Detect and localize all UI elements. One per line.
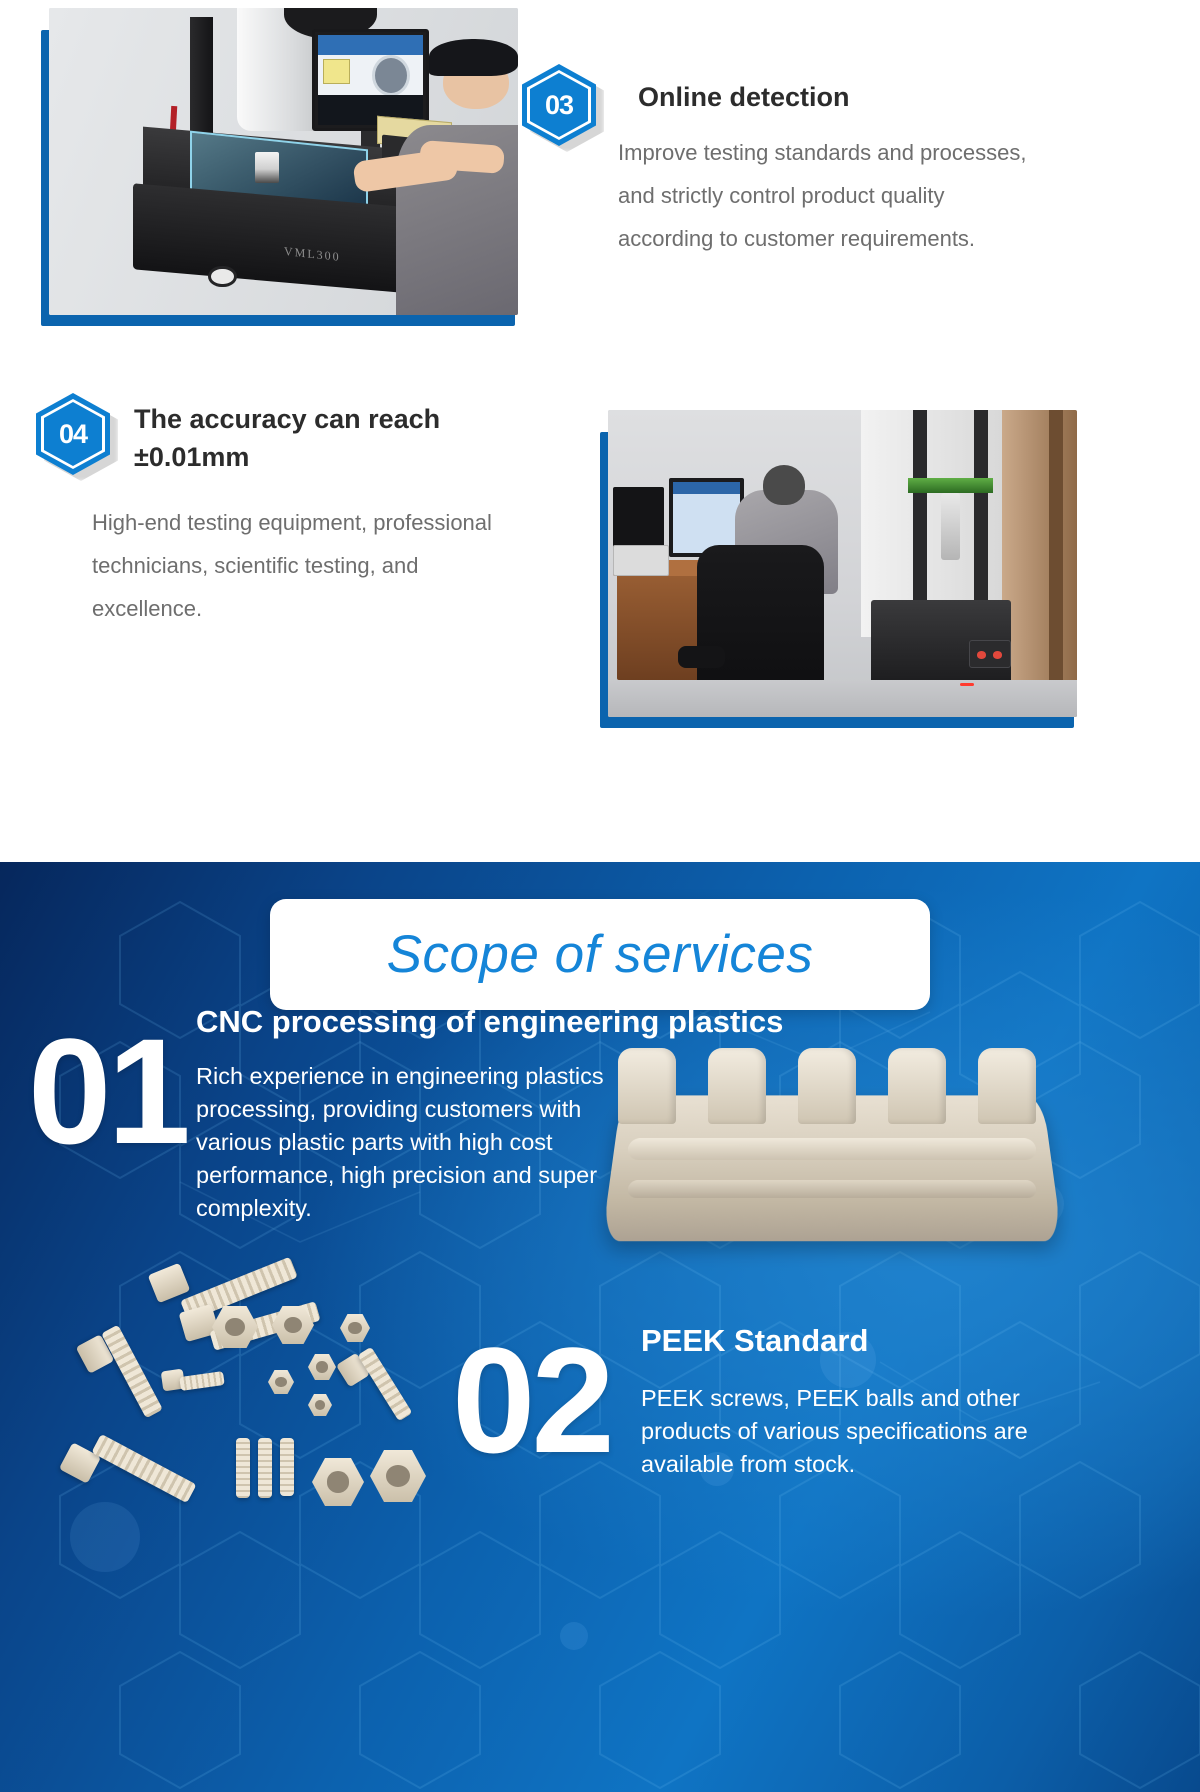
- hex-nut: [308, 1394, 332, 1416]
- indicator-light: [993, 651, 1002, 658]
- machine-grip: [941, 493, 960, 561]
- stud: [280, 1438, 294, 1496]
- chain-plate-tooth: [888, 1048, 946, 1124]
- online-detection-photo-frame: VML300: [38, 8, 518, 326]
- bolt-shaft: [91, 1434, 196, 1503]
- chain-plate-tooth: [618, 1048, 676, 1124]
- hex-nut: [312, 1458, 364, 1506]
- feature-title-online-detection: Online detection: [638, 78, 1058, 116]
- machine-crosshead: [908, 478, 992, 493]
- roller-knob: [208, 266, 236, 287]
- machine-column-left: [913, 410, 927, 631]
- hex-nut: [308, 1354, 336, 1380]
- service-title-cnc: CNC processing of engineering plastics: [196, 1004, 956, 1040]
- photo-scene-artwork: VML300: [49, 8, 518, 315]
- service-number-02: 02: [452, 1325, 611, 1475]
- features-section: VML300 03 Online detection Improve testi…: [0, 0, 1200, 862]
- monitor: [312, 29, 429, 130]
- badge-number: 04: [36, 393, 110, 475]
- service-number-01: 01: [28, 1016, 187, 1166]
- monitor-screen: [318, 35, 423, 124]
- chain-plate-rail-lower: [627, 1180, 1037, 1198]
- hex-nut: [268, 1370, 294, 1394]
- chain-plate-tooth: [708, 1048, 766, 1124]
- decorative-bubble: [560, 1622, 588, 1650]
- bolt-shaft: [101, 1325, 163, 1419]
- sample-part: [255, 152, 278, 183]
- technician-head: [763, 465, 805, 505]
- chair-armrest: [678, 646, 725, 667]
- feature-body-online-detection: Improve testing standards and processes,…: [618, 132, 1038, 261]
- bolt-shaft: [179, 1371, 225, 1391]
- door-frame: [1049, 410, 1063, 717]
- bolt-shaft: [358, 1347, 413, 1422]
- bolt-head: [148, 1263, 191, 1304]
- secondary-monitor: [613, 487, 665, 548]
- hex-nut: [370, 1450, 426, 1502]
- stud: [258, 1438, 272, 1498]
- control-box: [969, 640, 1011, 668]
- tensile-testing-photo-frame: [600, 410, 1080, 730]
- screen-panel: [323, 59, 350, 84]
- indicator-light: [977, 651, 986, 658]
- laser-dot: [960, 683, 974, 687]
- service-title-peek: PEEK Standard: [641, 1323, 1071, 1359]
- printer: [613, 545, 669, 576]
- step-badge-03: 03: [522, 64, 596, 146]
- hex-nut: [340, 1314, 370, 1342]
- badge-number: 03: [522, 64, 596, 146]
- peek-chain-plate-image: [612, 1030, 1052, 1260]
- service-body-peek: PEEK screws, PEEK balls and other produc…: [641, 1382, 1041, 1481]
- wood-door: [1002, 410, 1077, 717]
- promo-page: VML300 03 Online detection Improve testi…: [0, 0, 1200, 1792]
- screen-part-view: [372, 55, 410, 96]
- scope-of-services-card: Scope of services: [270, 899, 930, 1010]
- stud: [236, 1438, 250, 1498]
- step-badge-04: 04: [36, 393, 110, 475]
- feature-title-accuracy: The accuracy can reach ±0.01mm: [134, 400, 534, 477]
- chain-plate-rail-upper: [627, 1138, 1037, 1160]
- floor: [608, 680, 1077, 717]
- optical-measuring-machine-photo: VML300: [49, 8, 518, 315]
- service-body-cnc: Rich experience in engineering plastics …: [196, 1060, 616, 1224]
- screen-toolbar: [673, 482, 739, 493]
- monitor-screen: [673, 482, 739, 552]
- operator-cap: [429, 39, 518, 76]
- chain-plate-tooth: [978, 1048, 1036, 1124]
- screen-toolbar: [318, 35, 423, 55]
- peek-screws-image: [40, 1262, 460, 1532]
- machine-column-right: [974, 410, 988, 631]
- tensile-testing-machine-photo: [608, 410, 1077, 717]
- scope-of-services-heading: Scope of services: [387, 924, 814, 985]
- feature-body-accuracy: High-end testing equipment, professional…: [92, 502, 532, 631]
- photo-scene-artwork: [608, 410, 1077, 717]
- chain-plate-tooth: [798, 1048, 856, 1124]
